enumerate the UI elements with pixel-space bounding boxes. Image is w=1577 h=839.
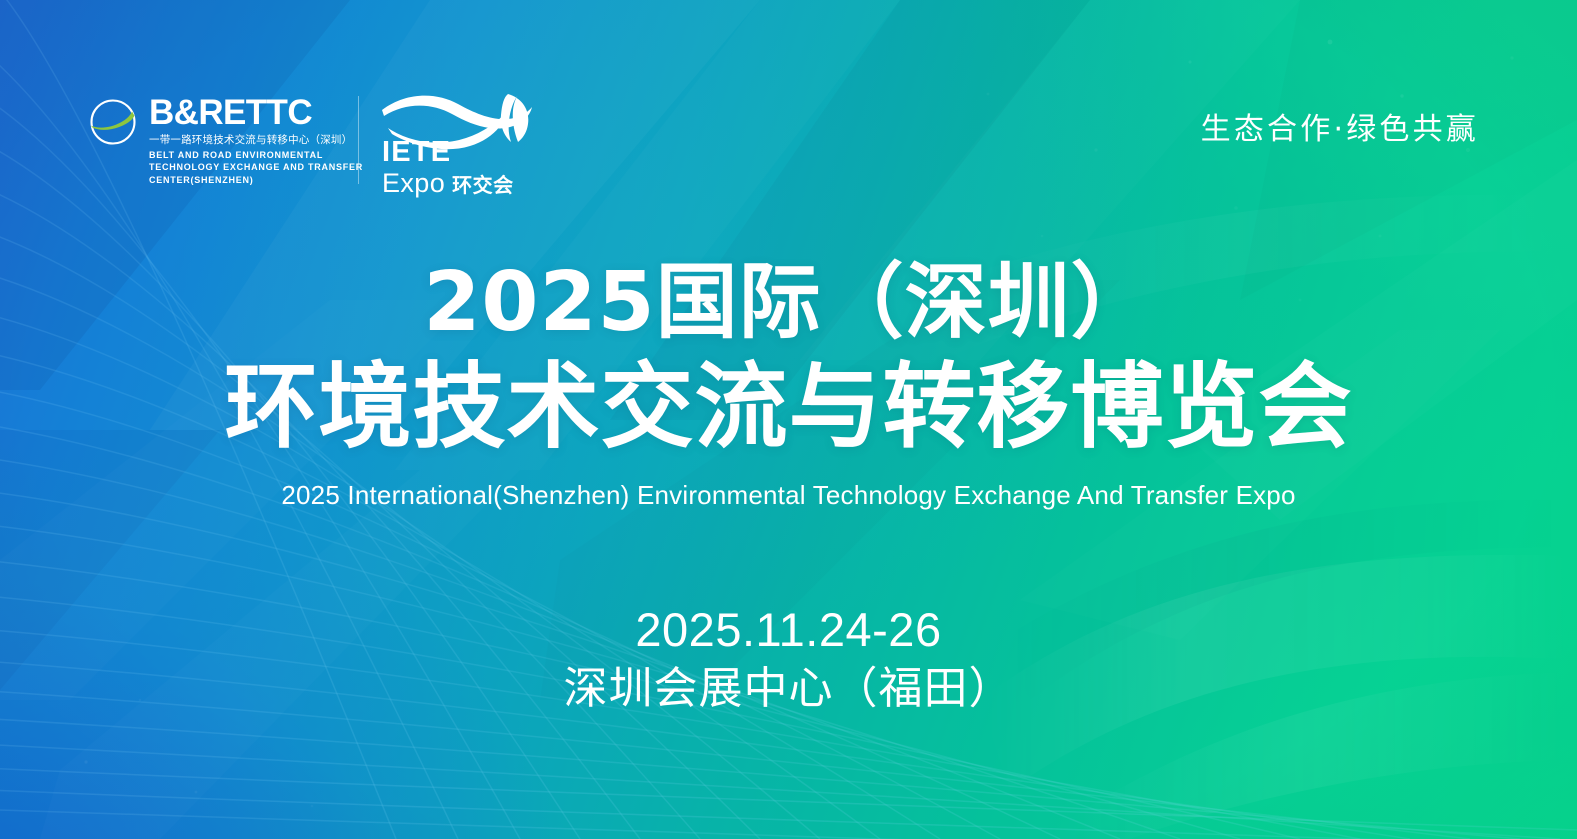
iete-typography: IETE Expo 环交会 xyxy=(382,138,514,197)
event-date: 2025.11.24-26 xyxy=(0,603,1577,658)
brettc-english-line-2: TECHNOLOGY EXCHANGE AND TRANSFER xyxy=(149,161,363,173)
logo-divider xyxy=(358,96,359,184)
brettc-english-line-3: CENTER(SHENZHEN) xyxy=(149,174,363,186)
title-line-2: 环境技术交流与转移博览会 xyxy=(0,361,1577,454)
brettc-logo: B&RETTC 一带一路环境技术交流与转移中心（深圳） BELT AND ROA… xyxy=(88,95,363,186)
globe-orbit-icon xyxy=(88,97,138,147)
iete-acronym: IETE xyxy=(382,138,514,167)
iete-expo-logo: IETE Expo 环交会 xyxy=(380,88,542,192)
title-block: 2025国际（深圳） 环境技术交流与转移博览会 2025 Internation… xyxy=(0,262,1577,511)
iete-subline: Expo 环交会 xyxy=(382,170,514,197)
event-info-block: 2025.11.24-26 深圳会展中心（福田） xyxy=(0,603,1577,715)
event-banner: B&RETTC 一带一路环境技术交流与转移中心（深圳） BELT AND ROA… xyxy=(0,0,1577,839)
brettc-english-line-1: BELT AND ROAD ENVIRONMENTAL xyxy=(149,149,363,161)
title-line-1: 2025国际（深圳） xyxy=(0,262,1577,344)
banner-content: B&RETTC 一带一路环境技术交流与转移中心（深圳） BELT AND ROA… xyxy=(0,0,1577,839)
brettc-chinese-name: 一带一路环境技术交流与转移中心（深圳） xyxy=(149,134,363,147)
iete-chinese-short: 环交会 xyxy=(452,175,514,195)
banner-header: B&RETTC 一带一路环境技术交流与转移中心（深圳） BELT AND ROA… xyxy=(0,0,1577,206)
iete-expo-word: Expo xyxy=(382,170,445,197)
brettc-wordmark: B&RETTC xyxy=(149,95,363,130)
brettc-text-block: B&RETTC 一带一路环境技术交流与转移中心（深圳） BELT AND ROA… xyxy=(149,95,363,186)
title-english-subtitle: 2025 International(Shenzhen) Environment… xyxy=(0,480,1577,511)
banner-slogan: 生态合作·绿色共赢 xyxy=(1201,104,1479,148)
brettc-english-name: BELT AND ROAD ENVIRONMENTAL TECHNOLOGY E… xyxy=(149,149,363,185)
event-venue: 深圳会展中心（福田） xyxy=(0,662,1577,716)
